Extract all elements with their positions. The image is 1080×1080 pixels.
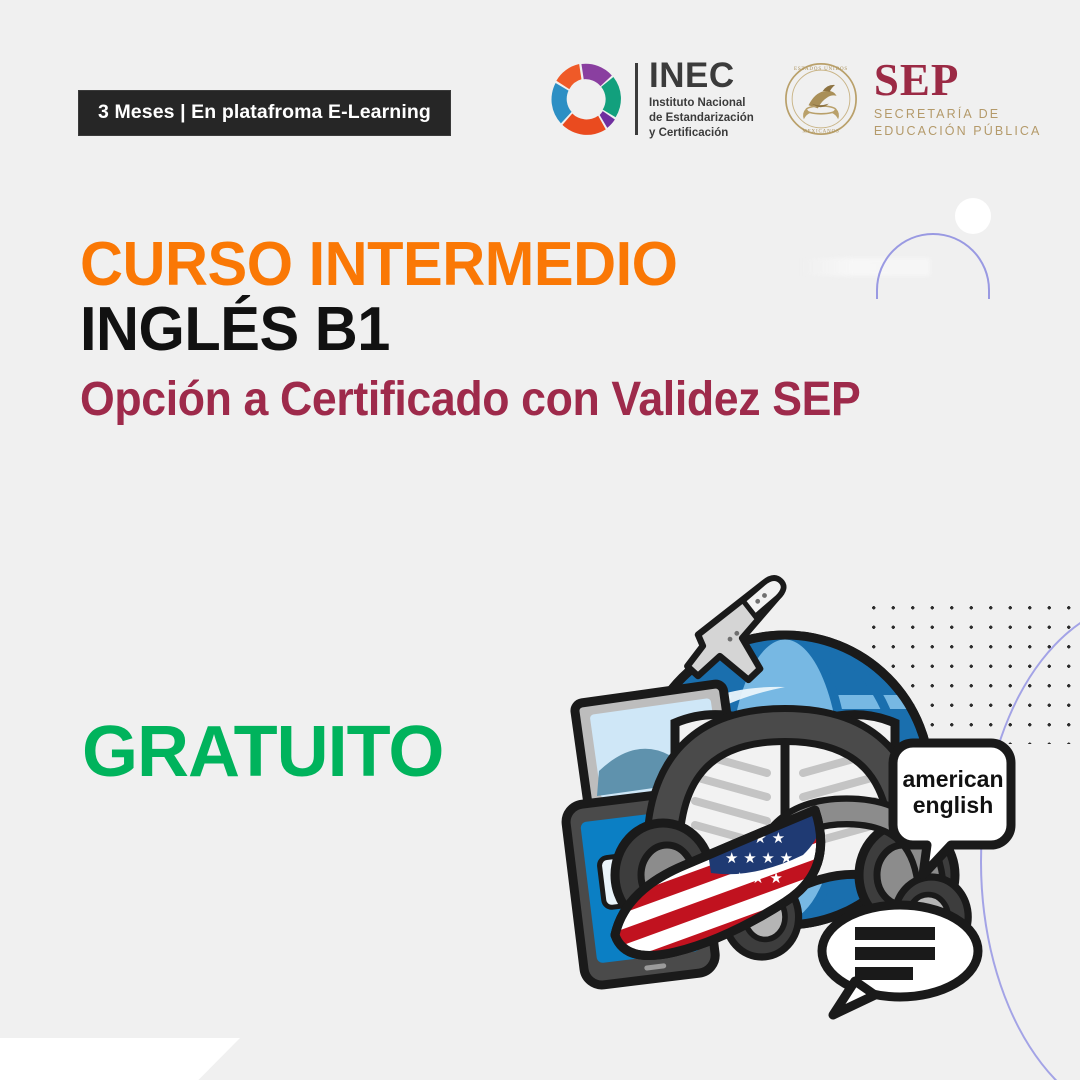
illustration-svg: ★ ★ ★ ★ ★ ★ ★ ★ ★ ★ ★ american english <box>555 575 1025 1025</box>
course-subtitle: Opción a Certificado con Validez SEP <box>80 375 860 425</box>
inec-ring-icon <box>548 61 624 137</box>
inec-subtitle-line-3: y Certificación <box>649 126 754 141</box>
inec-logo: INEC Instituto Nacional de Estandarizaci… <box>548 58 754 141</box>
headline-block: CURSO INTERMEDIO INGLÉS B1 Opción a Cert… <box>80 235 919 425</box>
poster-canvas: 3 Meses | En platafroma E-Learning INEC … <box>0 0 1080 1080</box>
inec-subtitle-line-1: Instituto Nacional <box>649 96 754 111</box>
logo-row: INEC Instituto Nacional de Estandarizaci… <box>548 58 1041 141</box>
inec-name: INEC <box>649 58 754 93</box>
bubble-text-line-2: english <box>913 792 994 818</box>
price-label: GRATUITO <box>82 716 443 788</box>
inec-subtitle-line-2: de Estandarización <box>649 111 754 126</box>
sep-subtitle: SECRETARÍA DE EDUCACIÓN PÚBLICA <box>874 106 1042 140</box>
circle-decoration <box>955 198 991 234</box>
sep-subtitle-line-1: SECRETARÍA DE <box>874 106 1042 123</box>
svg-text:★ ★ ★: ★ ★ ★ <box>733 869 783 887</box>
sep-logo: ESTADOS UNIDOS MEXICANOS SEP SECRETARÍA … <box>782 59 1042 141</box>
speech-bubble-lines-icon <box>822 905 978 1015</box>
corner-wedge-decoration <box>0 1038 240 1080</box>
english-course-illustration: ★ ★ ★ ★ ★ ★ ★ ★ ★ ★ ★ american english <box>555 575 1025 1025</box>
svg-text:★ ★ ★ ★: ★ ★ ★ ★ <box>725 849 793 867</box>
bubble-text-line-1: american <box>902 766 1003 792</box>
course-kicker: CURSO INTERMEDIO <box>80 235 886 296</box>
svg-text:MEXICANOS: MEXICANOS <box>802 130 839 135</box>
mexico-coat-of-arms-icon: ESTADOS UNIDOS MEXICANOS <box>782 60 860 138</box>
course-title: INGLÉS B1 <box>80 298 886 361</box>
inec-subtitle: Instituto Nacional de Estandarización y … <box>649 96 754 141</box>
duration-badge: 3 Meses | En platafroma E-Learning <box>78 90 451 136</box>
sep-name: SEP <box>874 59 1042 102</box>
sep-subtitle-line-2: EDUCACIÓN PÚBLICA <box>874 123 1042 140</box>
logo-divider <box>635 63 638 135</box>
svg-text:ESTADOS UNIDOS: ESTADOS UNIDOS <box>794 68 848 73</box>
